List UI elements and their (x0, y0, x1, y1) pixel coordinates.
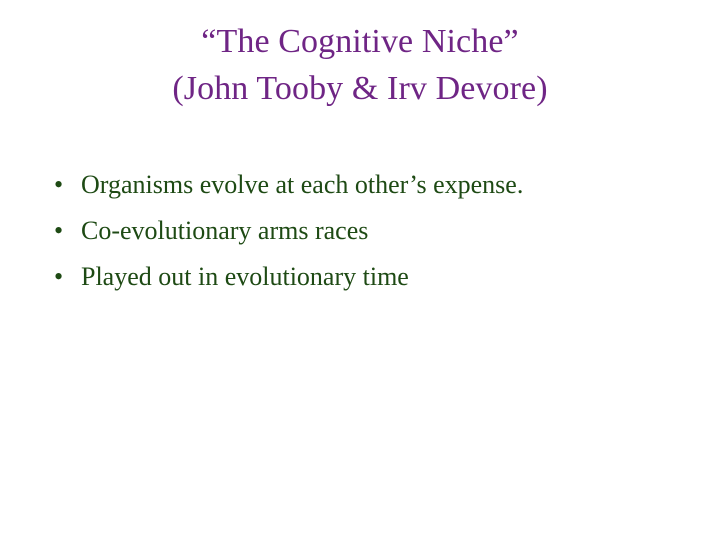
slide-title-line-2: (John Tooby & Irv Devore) (0, 65, 720, 112)
bullet-item-label: Co-evolutionary arms races (81, 216, 368, 245)
list-item: • Organisms evolve at each other’s expen… (48, 162, 688, 208)
bullet-point-icon: • (54, 208, 72, 254)
list-item: • Played out in evolutionary time (48, 254, 688, 300)
bullet-item-label: Organisms evolve at each other’s expense… (81, 170, 523, 199)
bullet-point-icon: • (54, 162, 72, 208)
list-item: • Co-evolutionary arms races (48, 208, 688, 254)
slide-bullet-list: • Organisms evolve at each other’s expen… (48, 162, 688, 300)
presentation-slide: “The Cognitive Niche” (John Tooby & Irv … (0, 0, 720, 540)
bullet-item-label: Played out in evolutionary time (81, 262, 409, 291)
slide-title: “The Cognitive Niche” (John Tooby & Irv … (0, 18, 720, 112)
slide-title-line-1: “The Cognitive Niche” (0, 18, 720, 65)
bullet-point-icon: • (54, 254, 72, 300)
